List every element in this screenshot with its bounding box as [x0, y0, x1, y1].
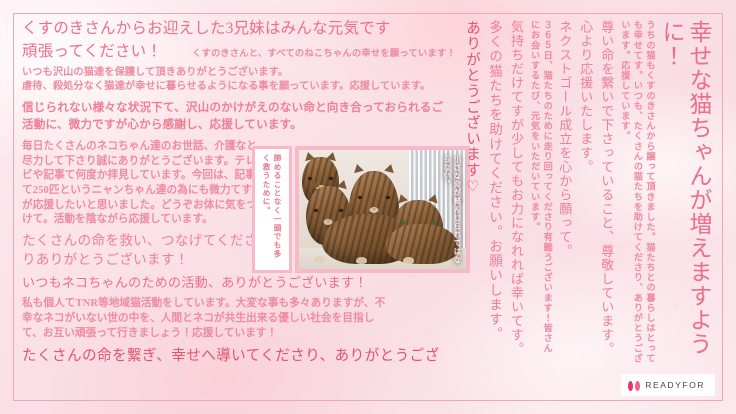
vertical-message-5: ３６５日、猫たちのために走り回ってくださり有難うございます！皆さんにお会いするた…: [528, 20, 553, 356]
vertical-message-7: 多くの猫たちを助けてください。お願いします。: [485, 20, 504, 370]
message-paragraph-5-line-2: 幸なネコがいない世の中を、人間とネコが共生出来る優しい社会を目指し: [22, 311, 470, 326]
readyfor-badge: READYFOR: [622, 375, 714, 395]
headline-secondary-row: 頑張ってください！ くすのきさんと、すべてのねこちゃんの幸せを願っています！: [22, 41, 470, 62]
vertical-message-4: ネクストゴール成立を心から願って。: [555, 20, 573, 366]
vertical-message-2: 尊い命を繋いで下さっていること、尊敬しています。: [597, 20, 615, 366]
message-paragraph-1-line-1: いつも沢山の猫達を保護して頂きありがとうございます。: [22, 66, 470, 80]
vertical-final-line: ありがとうございます♡: [462, 20, 482, 372]
message-paragraph-1-line-2: 虐待、殺処分なく猫達が幸せに暮らせるようになる事を願っています。応援しています。: [22, 80, 470, 94]
message-paragraph-5-line-3: て、お互い頑張って行きましょう！応援しています！: [22, 326, 470, 341]
message-paragraph-2-line-1: 信じられない様々な状況下て、沢山のかけがえのない命と向き合っておられるご: [22, 100, 470, 116]
headline-primary: くすのきさんからお迎えした3兄妹はみんな元気です: [22, 18, 470, 39]
message-paragraph-5: 私も個人てTNR等地域猫活動をしています。大変な事も多々ありますが、不 幸なネコ…: [22, 296, 470, 341]
vertical-message-3: 心より応援いたします。: [576, 20, 594, 366]
vertical-message-1: うちの猫もくすのきさんから譲って頂きました。猫たちとの暮らしはとっても幸せてす。…: [618, 20, 656, 368]
headline-secondary: 頑張ってください！: [22, 41, 162, 62]
right-message-column: 幸せな猫ちゃんが増えますように！ うちの猫もくすのきさんから譲って頂きました。猫…: [462, 20, 712, 372]
readyfor-logo-icon: [628, 379, 640, 391]
message-paragraph-2-line-2: 活動に、微力ですが心から感謝し、応援しています。: [22, 117, 470, 133]
message-final-left: たくさんの命を繋ぎ、幸せへ導いてくださり、ありがとうござ: [22, 346, 470, 366]
message-paragraph-5-line-1: 私も個人てTNR等地域猫活動をしています。大変な事も多々ありますが、不: [22, 296, 470, 311]
message-paragraph-2: 信じられない様々な状況下て、沢山のかけがえのない命と向き合っておられるご 活動に…: [22, 100, 470, 133]
photo-side-caption-text: 諦めることなく一頭でも多く救うために。: [261, 154, 283, 266]
kitten-paw-left: [314, 256, 325, 263]
vertical-message-6: 気持ちだけてすが少してもお力になれれば幸いてす。: [507, 20, 525, 366]
headline-secondary-subtitle: くすのきさんと、すべてのねこちゃんの幸せを願っています！: [192, 48, 456, 61]
message-paragraph-4-line-2: りありがとうございます！: [22, 250, 272, 269]
message-paragraph-4-line-1: たくさんの命を救い、つなげてくださ: [22, 231, 272, 250]
photo-overlay-caption: 小さな命が軽んじられてはならない。: [441, 155, 462, 269]
message-highlight: いつもネコちゃんのための活動、ありがとうございます！: [22, 273, 470, 292]
message-paragraph-4: たくさんの命を救い、つなげてくださ りありがとうございます！: [22, 231, 272, 269]
photo-side-caption-box: 諦めることなく一頭でも多く救うために。: [252, 146, 292, 273]
photo-card: 小さな命が軽んじられてはならない。: [295, 146, 470, 273]
kitten-photo: 小さな命が軽んじられてはならない。: [299, 150, 466, 269]
message-paragraph-1: いつも沢山の猫達を保護して頂きありがとうございます。 虐待、殺処分なく猫達が幸せ…: [22, 66, 470, 94]
photo-block: 諦めることなく一頭でも多く救うために。: [252, 146, 470, 273]
readyfor-wordmark: READYFOR: [645, 380, 705, 390]
vertical-headline: 幸せな猫ちゃんが増えますように！: [658, 20, 712, 360]
message-paragraph-3: 毎日たくさんのネコちゃん達のお世話、介護なと尽力して下さり誠にありがとうございま…: [22, 140, 258, 228]
kitten-paw-center: [356, 257, 367, 264]
kitten-paw-right: [403, 257, 414, 264]
